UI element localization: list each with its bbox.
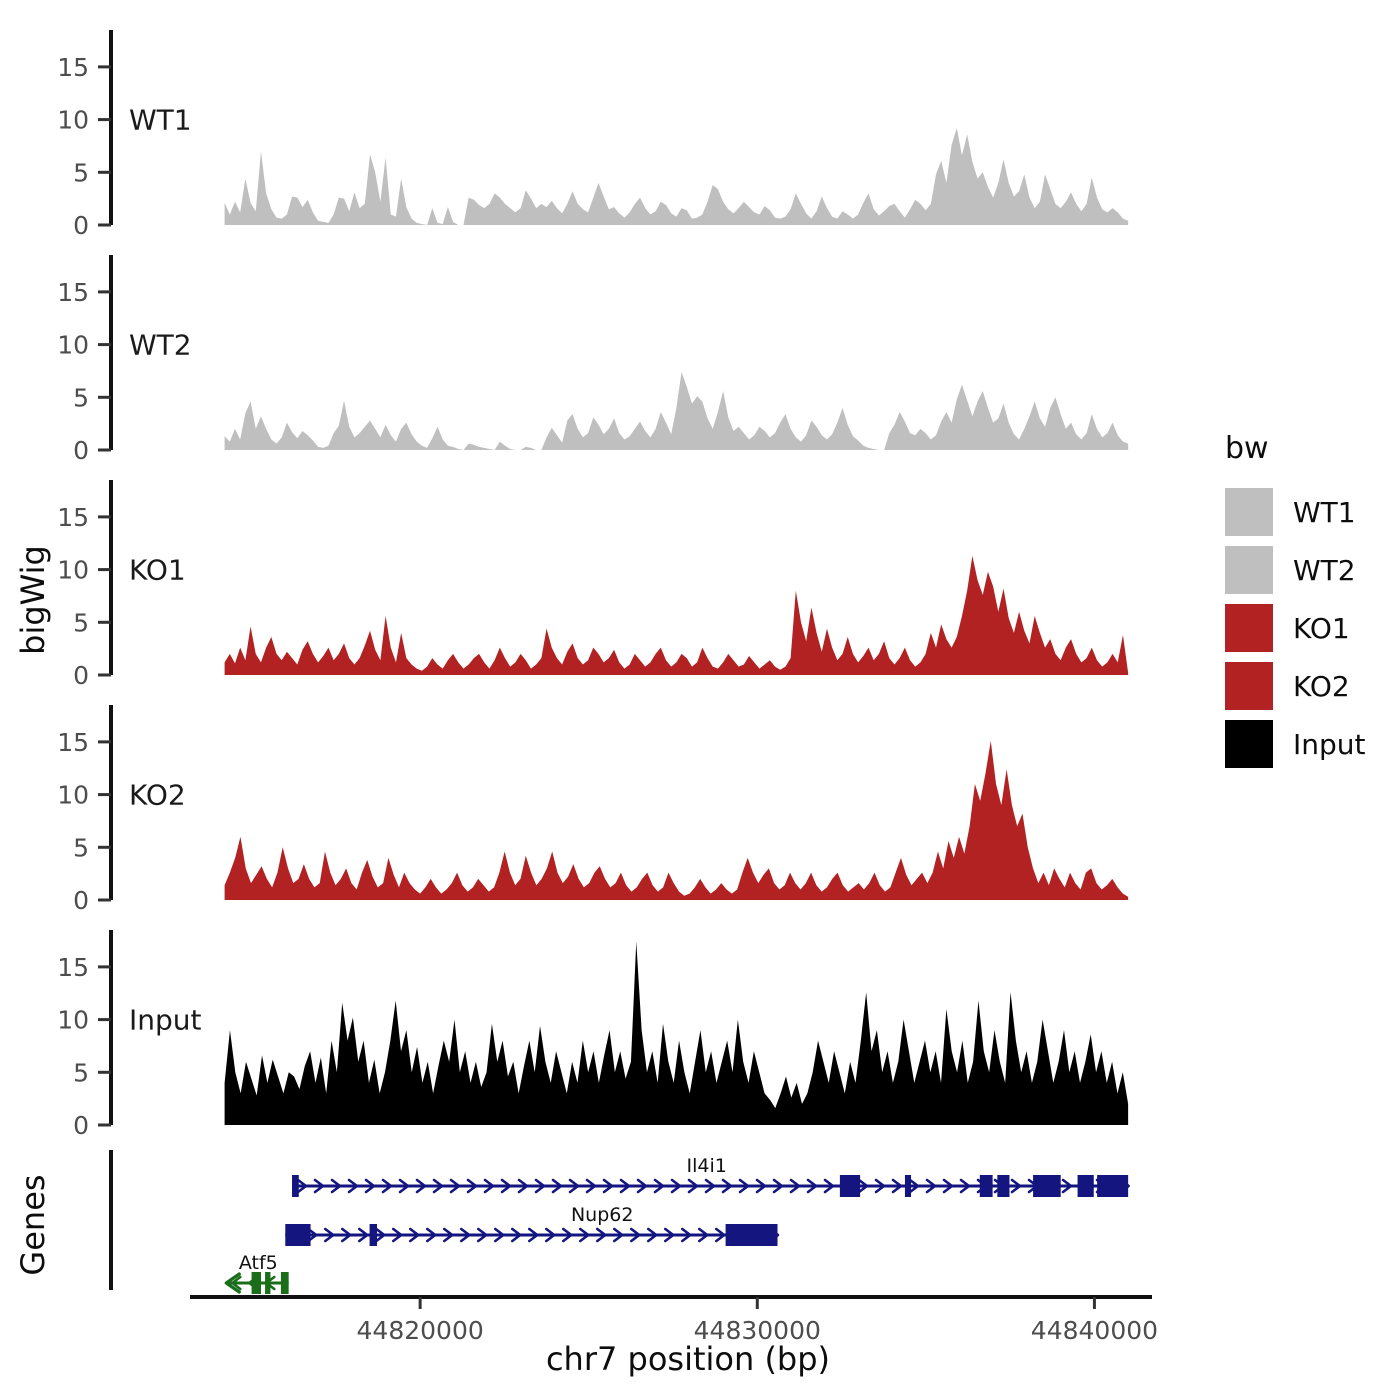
figure-root: bigWig Genes 051015WT1051015WT2051015KO1… bbox=[0, 0, 1400, 1400]
y-tick-label: 5 bbox=[73, 158, 89, 187]
gene-exon bbox=[980, 1175, 993, 1197]
y-tick-label: 10 bbox=[57, 1006, 89, 1035]
y-tick-label: 10 bbox=[57, 781, 89, 810]
gene-exon bbox=[265, 1272, 270, 1294]
gene-exon bbox=[1097, 1175, 1128, 1197]
track-label-input: Input bbox=[129, 1004, 202, 1037]
y-tick-label: 0 bbox=[73, 886, 89, 915]
legend-label-input: Input bbox=[1293, 728, 1366, 761]
gene-exon bbox=[905, 1175, 911, 1197]
y-tick-label: 5 bbox=[73, 383, 89, 412]
legend-label-ko2: KO2 bbox=[1293, 670, 1350, 703]
legend-label-ko1: KO1 bbox=[1293, 612, 1350, 645]
gene-exon bbox=[292, 1175, 299, 1197]
genome-browser-figure: bigWig Genes 051015WT1051015WT2051015KO1… bbox=[0, 0, 1400, 1400]
y-tick-label: 15 bbox=[57, 53, 89, 82]
y-tick-label: 15 bbox=[57, 728, 89, 757]
y-tick-label: 10 bbox=[57, 331, 89, 360]
track-label-ko2: KO2 bbox=[129, 779, 186, 812]
y-tick-label: 0 bbox=[73, 436, 89, 465]
x-tick-label: 44840000 bbox=[1031, 1316, 1158, 1345]
y-tick-label: 15 bbox=[57, 953, 89, 982]
y-tick-label: 0 bbox=[73, 211, 89, 240]
y-tick-label: 5 bbox=[73, 833, 89, 862]
gene-exon bbox=[281, 1272, 289, 1294]
legend-swatch-wt1[interactable] bbox=[1225, 488, 1273, 536]
legend-swatch-ko2[interactable] bbox=[1225, 662, 1273, 710]
y-tick-label: 15 bbox=[57, 503, 89, 532]
gene-exon bbox=[252, 1272, 261, 1294]
gene-exon bbox=[285, 1224, 310, 1246]
legend-label-wt2: WT2 bbox=[1293, 554, 1356, 587]
gene-label-il4i1: Il4i1 bbox=[687, 1155, 727, 1177]
gene-label-nup62: Nup62 bbox=[571, 1204, 634, 1226]
y-tick-label: 10 bbox=[57, 556, 89, 585]
track-label-wt2: WT2 bbox=[129, 329, 192, 362]
y-tick-label: 10 bbox=[57, 106, 89, 135]
gene-exon bbox=[726, 1224, 778, 1246]
track-label-wt1: WT1 bbox=[129, 104, 192, 137]
track-label-ko1: KO1 bbox=[129, 554, 186, 587]
legend-swatch-ko1[interactable] bbox=[1225, 604, 1273, 652]
legend-title: bw bbox=[1225, 431, 1269, 466]
y-tick-label: 5 bbox=[73, 1058, 89, 1087]
gene-label-atf5: Atf5 bbox=[239, 1252, 278, 1274]
legend-swatch-input[interactable] bbox=[1225, 720, 1273, 768]
gene-exon bbox=[370, 1224, 377, 1246]
legend-swatch-wt2[interactable] bbox=[1225, 546, 1273, 594]
x-axis-title: chr7 position (bp) bbox=[546, 1340, 830, 1378]
legend-label-wt1: WT1 bbox=[1293, 496, 1356, 529]
gene-exon bbox=[840, 1175, 860, 1197]
y-tick-label: 15 bbox=[57, 278, 89, 307]
y-tick-label: 0 bbox=[73, 661, 89, 690]
gene-exon bbox=[1078, 1175, 1094, 1197]
gene-exon bbox=[997, 1175, 1009, 1197]
y-axis-title-genes: Genes bbox=[14, 1174, 52, 1275]
gene-exon bbox=[1033, 1175, 1061, 1197]
y-tick-label: 5 bbox=[73, 608, 89, 637]
y-axis-title-bigwig: bigWig bbox=[14, 545, 52, 655]
y-tick-label: 0 bbox=[73, 1111, 89, 1140]
x-tick-label: 44820000 bbox=[357, 1316, 484, 1345]
figure-background bbox=[0, 0, 1400, 1400]
